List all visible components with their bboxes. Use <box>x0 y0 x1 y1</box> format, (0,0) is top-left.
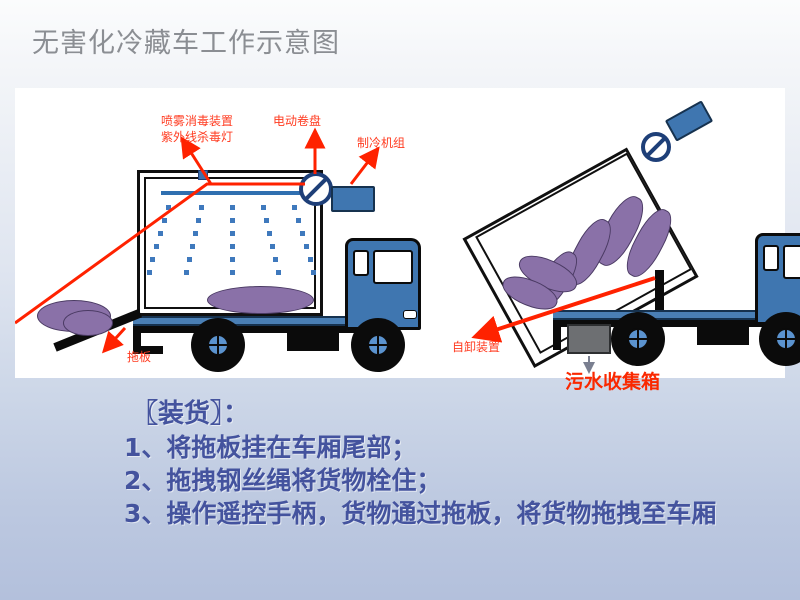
cargo-on-ramp-2 <box>63 310 113 336</box>
electric-reel-icon <box>299 172 333 206</box>
left-truck-rear-hub <box>207 334 229 356</box>
sewage-collection-box <box>567 324 611 354</box>
left-truck-side-window <box>353 250 369 276</box>
slide-canvas: 无害化冷藏车工作示意图 <box>0 0 800 600</box>
right-truck-rear-hub <box>627 328 649 350</box>
label-refrigeration-unit: 制冷机组 <box>357 136 405 151</box>
right-truck-front-hub <box>775 328 797 350</box>
label-sewage-collection-box: 污水收集箱 <box>565 371 660 394</box>
label-uv-lamp: 紫外线杀毒灯 <box>161 130 233 145</box>
left-truck-chassis <box>133 316 373 326</box>
label-spray-device: 喷雾消毒装置 <box>161 114 233 129</box>
label-electric-reel: 电动卷盘 <box>273 114 321 129</box>
refrigeration-unit <box>331 186 375 212</box>
uv-lamp-fixture <box>198 170 208 180</box>
right-truck-side-window <box>763 245 779 271</box>
left-truck-headlight <box>403 310 417 319</box>
page-title: 无害化冷藏车工作示意图 <box>32 24 340 64</box>
right-truck-reel-icon <box>641 132 671 162</box>
right-reel-bar <box>646 137 666 157</box>
spray-bar <box>161 191 301 195</box>
left-truck-front-hub <box>367 334 389 356</box>
instructions-heading: 〖装货〗： <box>132 398 792 431</box>
label-self-dump-device: 自卸装置 <box>452 340 500 355</box>
instruction-step-1: 1、将拖板挂在车厢尾部； <box>124 431 792 464</box>
right-truck-fuel-box <box>697 325 749 345</box>
right-truck-windshield <box>783 245 800 279</box>
label-drag-board: 拖板 <box>127 350 151 365</box>
right-truck-refrigeration-unit <box>665 100 713 141</box>
right-truck-rear-bumper <box>553 320 561 350</box>
instruction-step-3: 3、操作遥控手柄，货物通过拖板，将货物拖拽至车厢 <box>124 497 792 530</box>
loading-instructions: 〖装货〗： 1、将拖板挂在车厢尾部； 2、拖拽钢丝绳将货物栓住； 3、操作遥控手… <box>132 398 792 530</box>
diagram-panel: 喷雾消毒装置 紫外线杀毒灯 电动卷盘 制冷机组 拖板 自卸装置 污水收集箱 <box>15 88 785 378</box>
left-truck-windshield <box>373 250 413 284</box>
right-truck-chassis <box>553 310 783 320</box>
cargo-inside-box <box>207 286 314 314</box>
left-truck-fuel-box <box>287 331 339 351</box>
reel-bar <box>304 177 327 200</box>
instruction-step-2: 2、拖拽钢丝绳将货物栓住； <box>124 464 792 497</box>
